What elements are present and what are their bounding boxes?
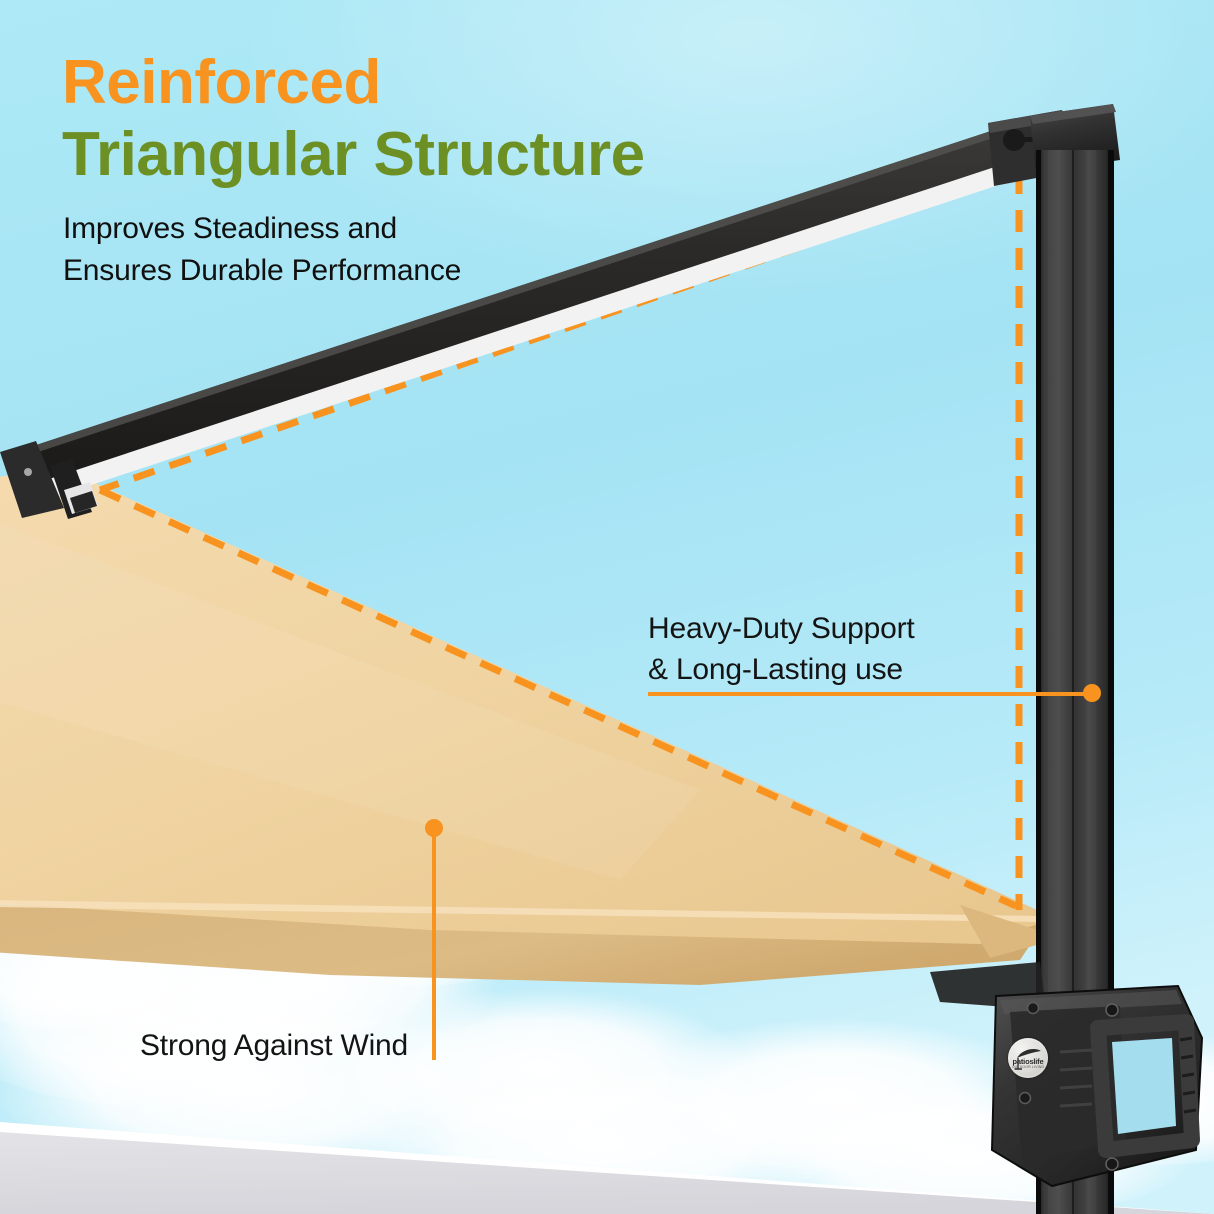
subheadline-line-2: Ensures Durable Performance: [63, 254, 461, 288]
wind-leader-dot: [425, 819, 443, 837]
handle-loop-hole: [1112, 1038, 1176, 1134]
subheadline-line-1: Improves Steadiness and: [63, 212, 397, 246]
brand-badge: patioslife OUTDOOR LIVING: [1008, 1038, 1048, 1078]
headline-line-2: Triangular Structure: [62, 124, 645, 186]
brand-badge-sublabel: OUTDOOR LIVING: [1008, 1065, 1048, 1069]
callout-strong-against-wind: Strong Against Wind: [140, 1029, 408, 1063]
callout-heavy-duty-support-line-2: & Long-Lasting use: [648, 653, 903, 687]
headline-line-1: Reinforced: [62, 52, 381, 114]
callout-heavy-duty-support-line-1: Heavy-Duty Support: [648, 612, 915, 646]
product-feature-graphic: Reinforced Triangular Structure Improves…: [0, 0, 1214, 1214]
support-leader-dot: [1083, 684, 1101, 702]
